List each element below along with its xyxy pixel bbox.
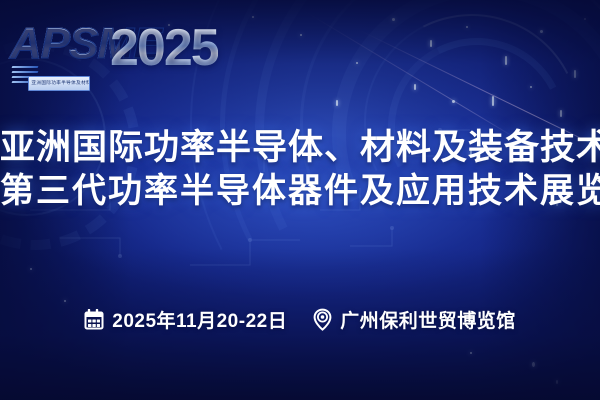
event-venue-text: 广州保利世贸博览馆 [340,306,516,333]
logo-wordmark: APSME [8,22,120,66]
event-date-item: 2025年11月20-22日 [84,306,287,333]
headline-line-2: 第三代功率半导体器件及应用技术展览会 [0,170,600,213]
event-date-text: 2025年11月20-22日 [112,306,287,333]
headline-line-1: 亚洲国际功率半导体、材料及装备技术展览会 [0,126,600,170]
exhibition-banner: APSME 亚洲国际功率半导体及材料展览会 2025 亚洲国际功率半导体、材料及… [0,0,600,400]
logo-badge: 亚洲国际功率半导体及材料展览会 [28,76,90,91]
logo-badge-caption: 亚洲国际功率半导体及材料展览会 [31,78,86,90]
event-venue-item: 广州保利世贸博览馆 [313,306,516,333]
headline-group: 亚洲国际功率半导体、材料及装备技术展览会 第三代功率半导体器件及应用技术展览会 [0,126,600,213]
event-info-bar: 2025年11月20-22日 广州保利世贸博览馆 [0,306,600,333]
location-pin-icon [313,308,332,331]
logo-year: 2025 [110,22,218,74]
calendar-icon [84,309,104,330]
